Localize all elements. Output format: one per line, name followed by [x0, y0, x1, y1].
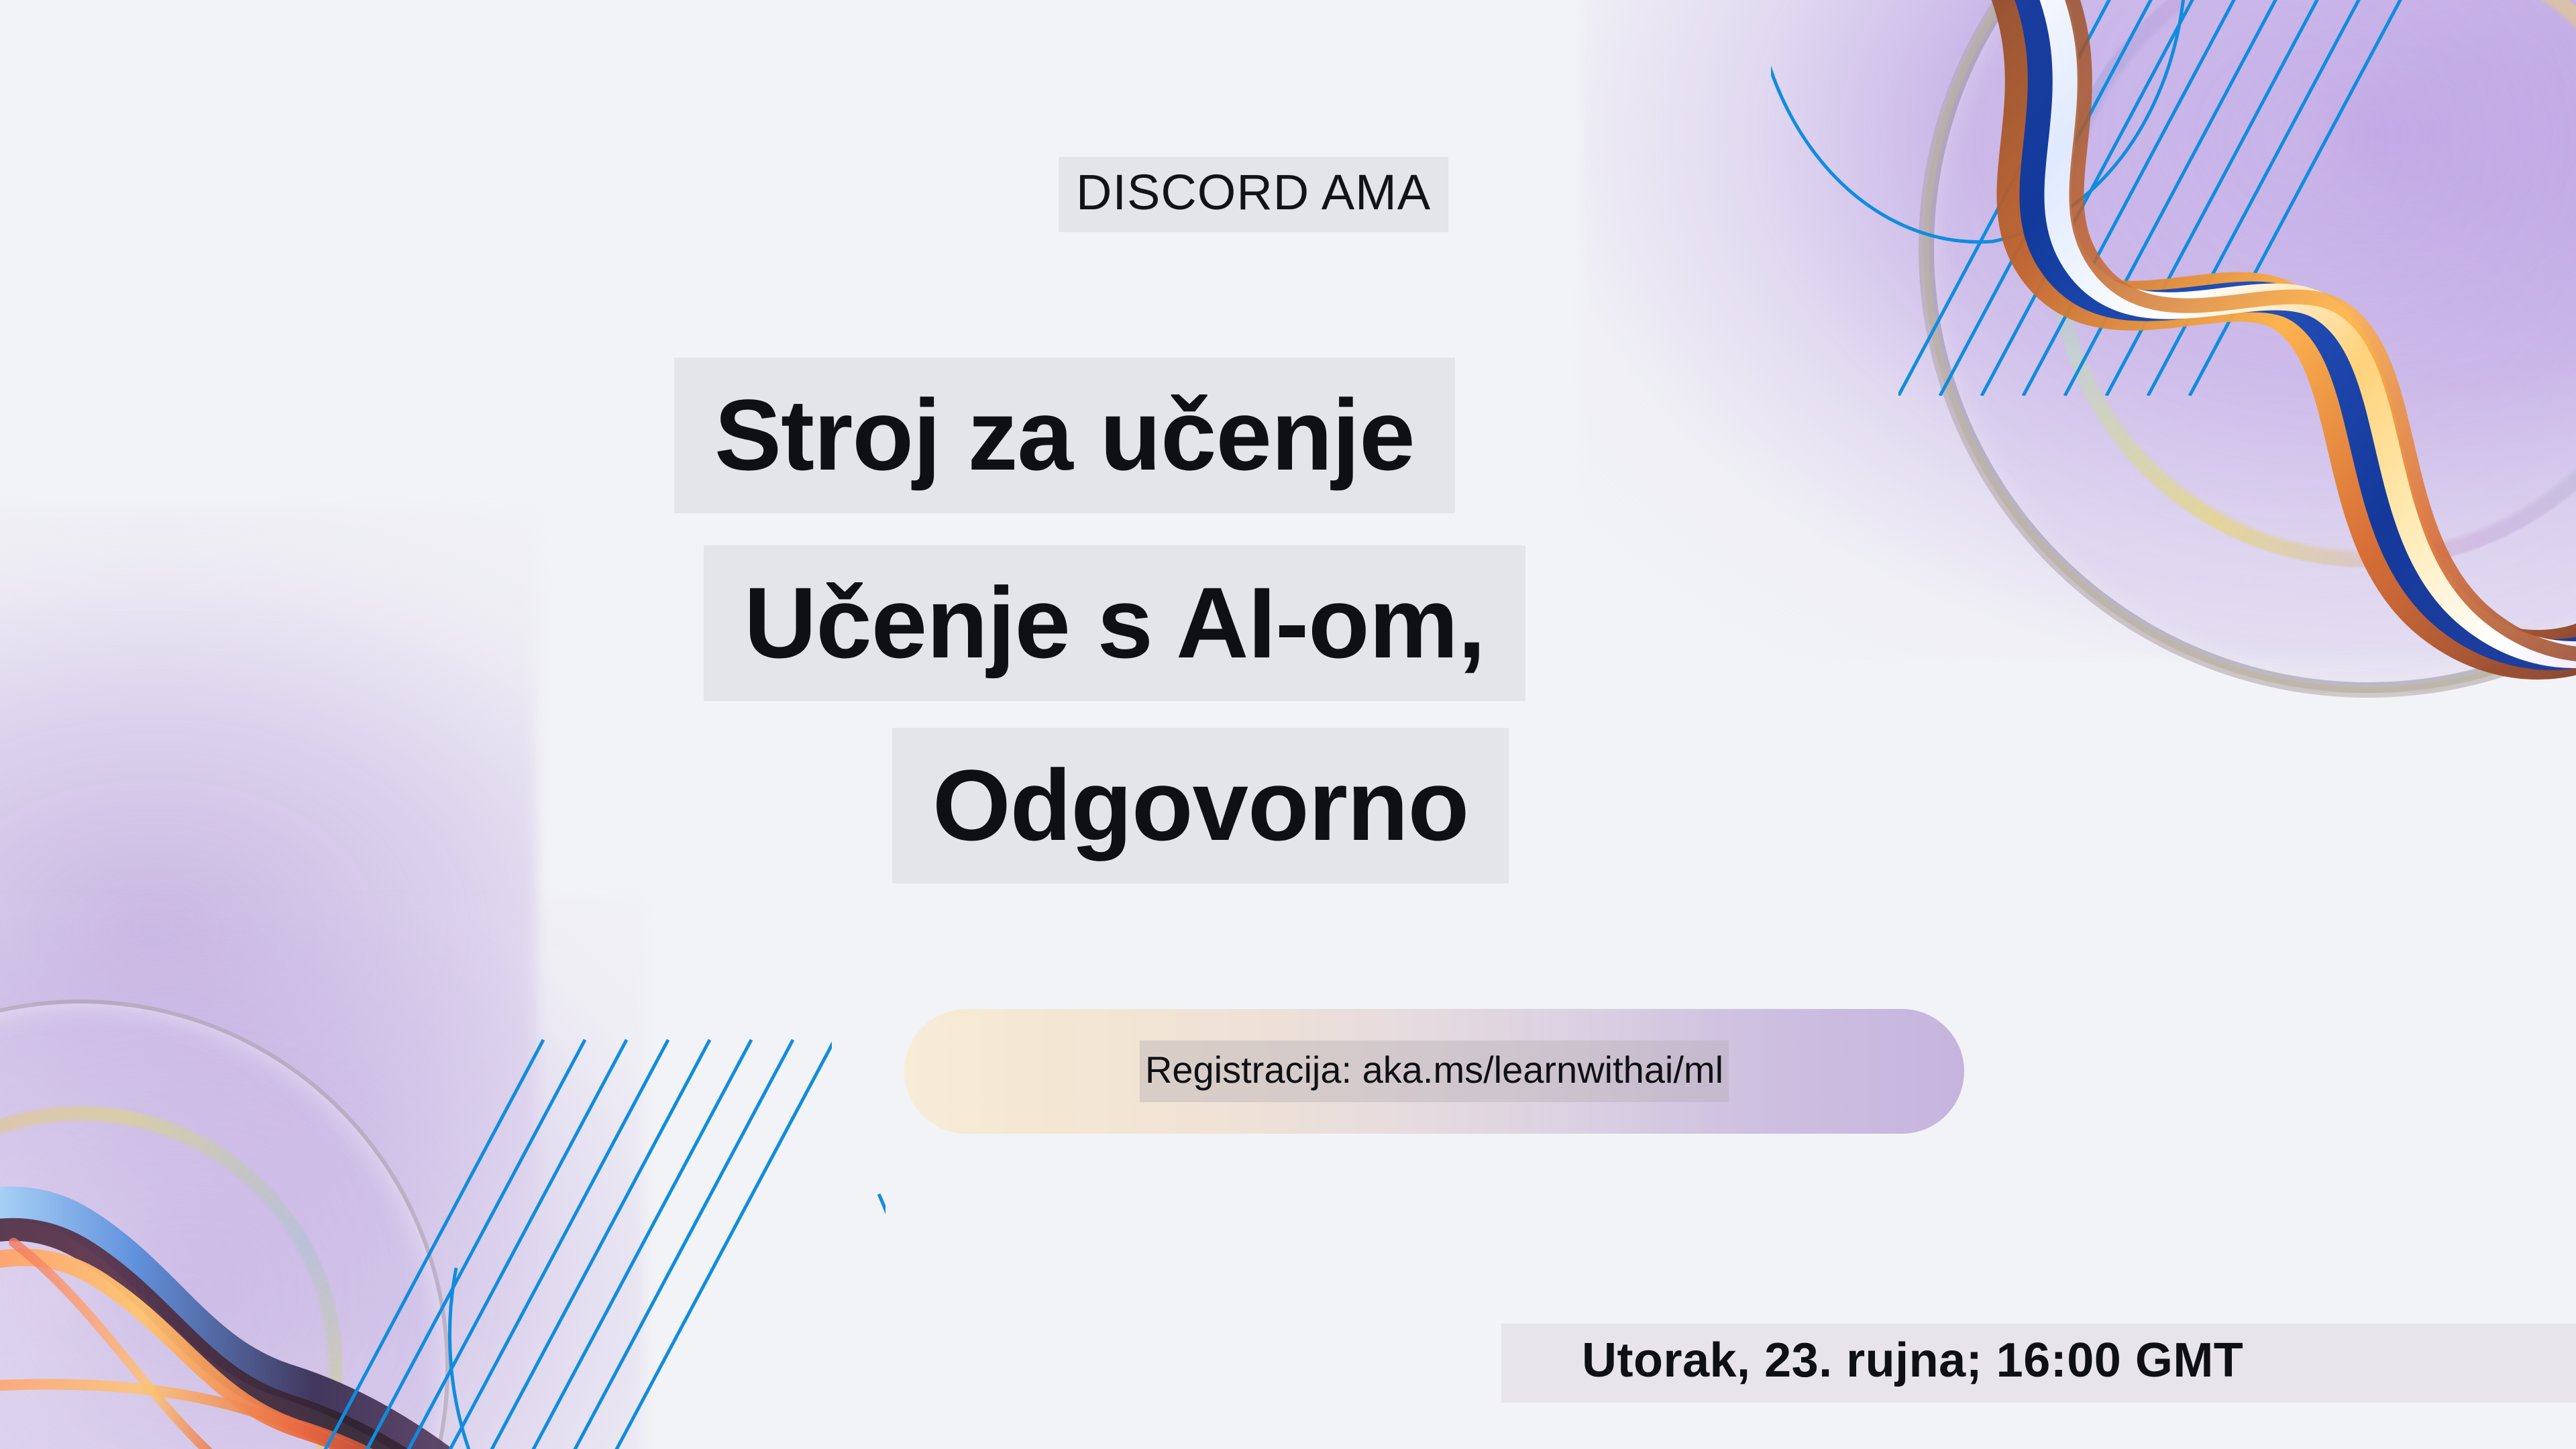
- registration-cta-label: Registracija: aka.ms/learnwithai/ml: [1140, 1040, 1729, 1102]
- cyan-arc-bottom-left-icon: [443, 1187, 885, 1449]
- diagonal-hatch-bottom-left-icon: [322, 1026, 832, 1449]
- page-title: Stroj za učenje Učenje s AI-om, Odgovorn…: [0, 358, 2576, 883]
- diagonal-hatch-top-right-icon: [1898, 0, 2408, 396]
- iridescent-ribbon-bottom-left-icon: [0, 1006, 758, 1449]
- bubble-sphere-bottom-left-icon: [0, 1000, 449, 1449]
- event-datetime: Utorak, 23. rujna; 16:00 GMT: [1501, 1324, 2576, 1403]
- bubble-rim-bottom-left-icon: [0, 1000, 449, 1449]
- cyan-arc-top-right-icon: [1771, 0, 2187, 335]
- title-line-1: Stroj za učenje: [674, 358, 1455, 513]
- registration-cta-button[interactable]: Registracija: aka.ms/learnwithai/ml: [904, 1009, 1964, 1134]
- purple-glow-bottom-left: [0, 899, 644, 1449]
- title-line-3: Odgovorno: [892, 728, 1509, 883]
- eyebrow-label: DISCORD AMA: [1059, 157, 1448, 232]
- presentation-slide: DISCORD AMA Stroj za učenje Učenje s AI-…: [0, 0, 2576, 1449]
- title-line-2: Učenje s AI-om,: [704, 545, 1525, 701]
